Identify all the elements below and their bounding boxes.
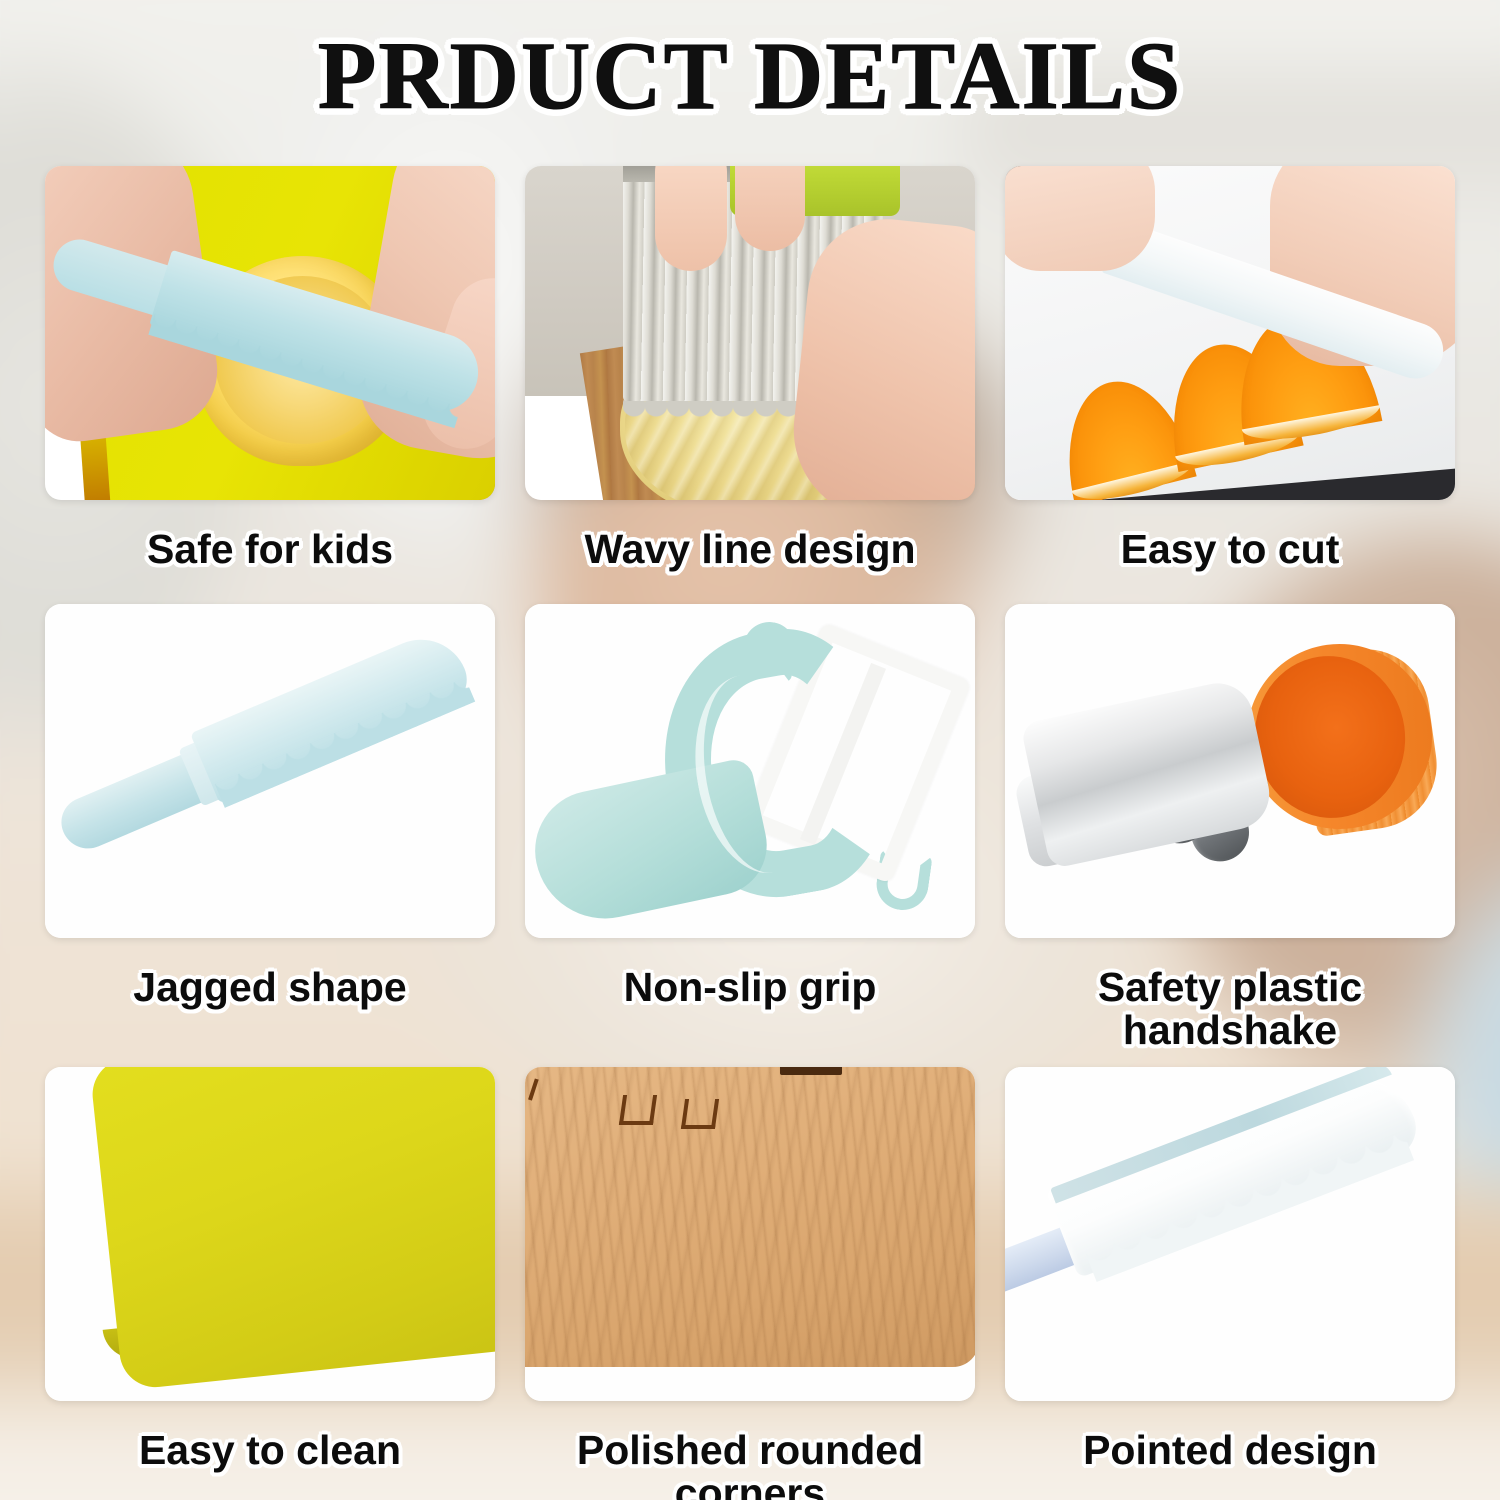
feature-image-wavy-line-design bbox=[525, 166, 975, 500]
wood-knife-mark-1 bbox=[619, 1095, 657, 1125]
feature-caption-easy-to-cut: Easy to cut bbox=[1005, 500, 1455, 604]
feature-image-easy-to-clean bbox=[45, 1067, 495, 1401]
feature-caption-wavy-line-design: Wavy line design bbox=[525, 500, 975, 604]
caption-line-2: corners bbox=[675, 1470, 825, 1500]
finger-two bbox=[735, 166, 805, 251]
feature-cell-safe-for-kids: Safe for kids bbox=[45, 166, 495, 604]
feature-image-non-slip-grip bbox=[525, 604, 975, 938]
feature-cell-easy-to-cut: Easy to cut bbox=[1005, 166, 1455, 604]
feature-caption-safety-plastic-handshake: Safety plastic handshake bbox=[1005, 938, 1455, 1067]
product-details-infographic: PRDUCT DETAILS Safe for kids bbox=[0, 0, 1500, 1500]
feature-caption-easy-to-clean: Easy to clean bbox=[45, 1401, 495, 1500]
caption-line-2: handshake bbox=[1123, 1007, 1337, 1053]
wood-dark-edge-spot bbox=[780, 1067, 842, 1075]
caption-line-1: Polished rounded bbox=[577, 1427, 923, 1473]
feature-image-easy-to-cut bbox=[1005, 166, 1455, 500]
feature-image-pointed-design bbox=[1005, 1067, 1455, 1401]
left-hand bbox=[1005, 166, 1155, 271]
feature-cell-easy-to-clean: Easy to clean bbox=[45, 1067, 495, 1500]
page-title-container: PRDUCT DETAILS bbox=[0, 26, 1500, 127]
feature-grid: Safe for kids Wavy line design bbox=[45, 166, 1455, 1500]
feature-image-polished-rounded-corners bbox=[525, 1067, 975, 1401]
feature-caption-polished-rounded-corners: Polished rounded corners bbox=[525, 1401, 975, 1500]
feature-cell-pointed-design: Pointed design bbox=[1005, 1067, 1455, 1500]
finger-one bbox=[655, 166, 727, 271]
feature-caption-jagged-shape: Jagged shape bbox=[45, 938, 495, 1042]
wood-knife-mark-2 bbox=[681, 1099, 719, 1129]
feature-image-safety-plastic-handshake bbox=[1005, 604, 1455, 938]
feature-cell-jagged-shape: Jagged shape bbox=[45, 604, 495, 1067]
feature-cell-wavy-line-design: Wavy line design bbox=[525, 166, 975, 604]
feature-cell-polished-rounded-corners: Polished rounded corners bbox=[525, 1067, 975, 1500]
feature-caption-pointed-design: Pointed design bbox=[1005, 1401, 1455, 1500]
feature-caption-safe-for-kids: Safe for kids bbox=[45, 500, 495, 604]
caption-line-1: Safety plastic bbox=[1098, 964, 1362, 1010]
feature-image-jagged-shape bbox=[45, 604, 495, 938]
feature-cell-safety-plastic-handshake: Safety plastic handshake bbox=[1005, 604, 1455, 1067]
feature-image-safe-for-kids bbox=[45, 166, 495, 500]
yellow-cutting-board bbox=[89, 1067, 495, 1391]
feature-caption-non-slip-grip: Non-slip grip bbox=[525, 938, 975, 1042]
feature-cell-non-slip-grip: Non-slip grip bbox=[525, 604, 975, 1067]
page-title: PRDUCT DETAILS bbox=[318, 26, 1183, 127]
beech-wood-board bbox=[525, 1067, 975, 1367]
